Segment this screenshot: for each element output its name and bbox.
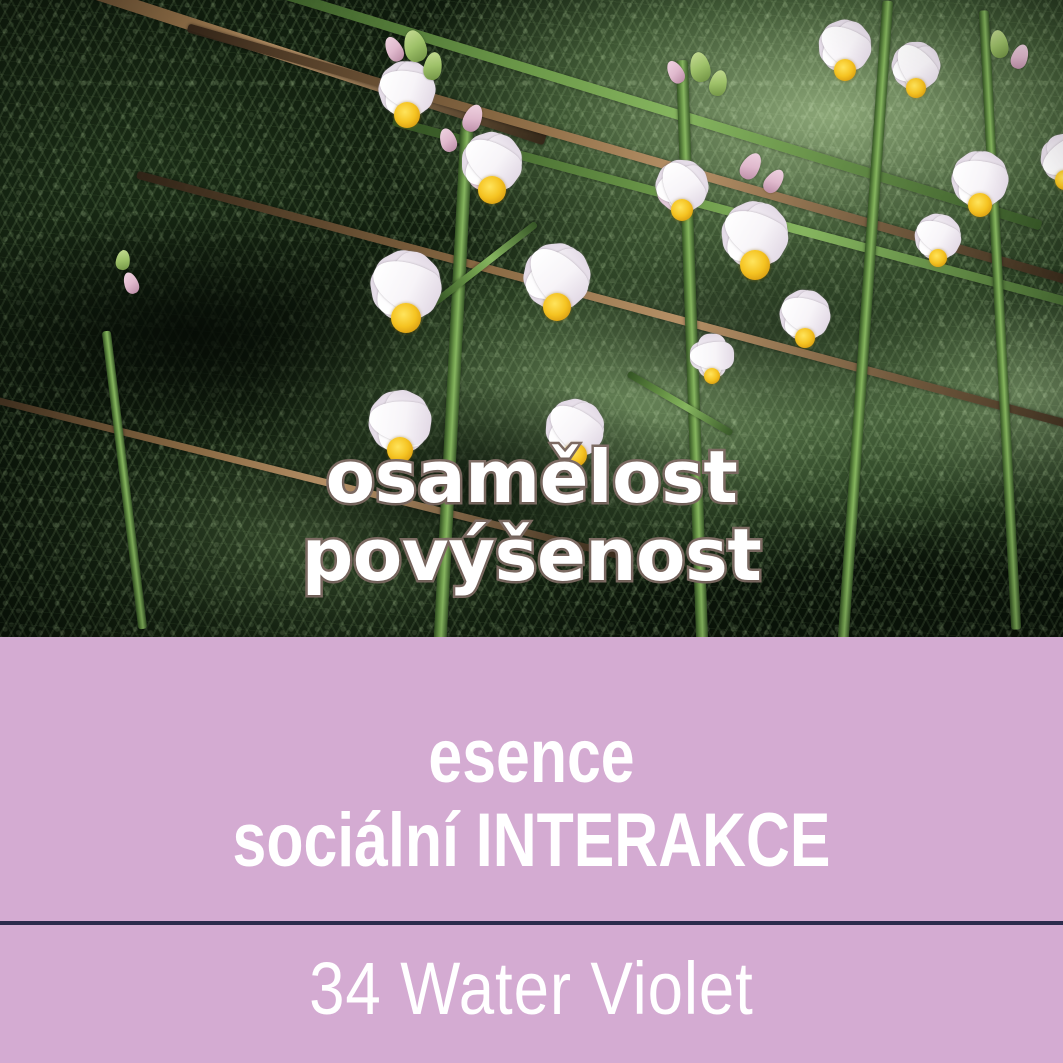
remedy-name-block: 34 Water Violet xyxy=(0,941,1063,1037)
flower-photo: osamělost povýšenost xyxy=(0,0,1063,637)
remedy-card: osamělost povýšenost esence sociální INT… xyxy=(0,0,1063,1063)
photo-vignette xyxy=(0,0,1063,637)
essence-line-1: esence xyxy=(106,715,956,799)
essence-block: esence sociální INTERAKCE xyxy=(0,715,1063,883)
essence-line-2: sociální INTERAKCE xyxy=(106,799,956,883)
caption-band: esence sociální INTERAKCE 34 Water Viole… xyxy=(0,637,1063,1063)
band-divider xyxy=(0,921,1063,925)
remedy-label: 34 Water Violet xyxy=(309,941,753,1037)
